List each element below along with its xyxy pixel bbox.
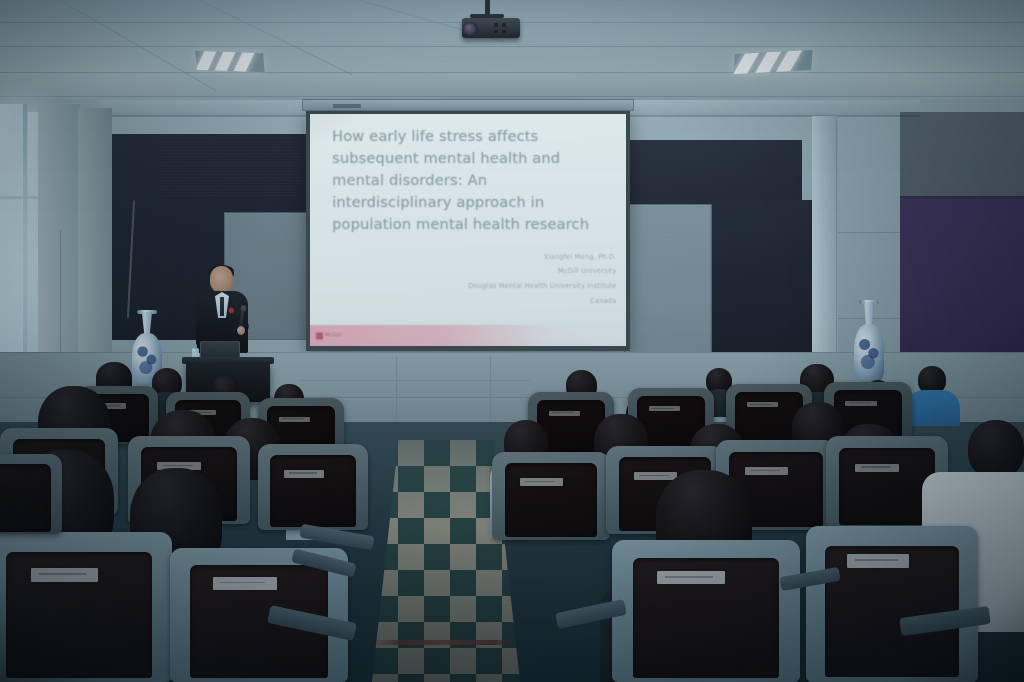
seat-number-label bbox=[649, 406, 680, 411]
presenter-head bbox=[210, 266, 233, 293]
projector-lens bbox=[463, 22, 478, 37]
seat-number-label bbox=[847, 554, 909, 568]
wall-panel-far-right-top bbox=[900, 112, 1024, 198]
seat-number-label bbox=[634, 472, 676, 480]
slide-author-name: Xiangfei Meng, Ph.D. bbox=[468, 250, 616, 265]
table-row[interactable] bbox=[258, 444, 368, 530]
slide-author-institute: Douglas Mental Health University Institu… bbox=[468, 279, 616, 294]
seat-number-label bbox=[213, 577, 277, 589]
slide-title: How early life stress affects subsequent… bbox=[332, 126, 591, 237]
acoustic-grille-left bbox=[160, 138, 300, 196]
presenter-hand bbox=[237, 326, 245, 335]
slide-footer-bar: McGill bbox=[310, 325, 626, 346]
slide-author-block: Xiangfei Meng, Ph.D. McGill University D… bbox=[468, 250, 616, 309]
seat-number-label bbox=[747, 402, 778, 407]
table-row[interactable] bbox=[806, 526, 978, 682]
screen-casing bbox=[302, 99, 634, 111]
seat-number-label bbox=[520, 478, 562, 486]
table-row[interactable] bbox=[612, 540, 800, 682]
ceiling bbox=[0, 0, 1024, 108]
mcgill-logo-text: McGill bbox=[325, 333, 341, 339]
seat-number-label bbox=[855, 464, 899, 472]
seat-number-label bbox=[279, 417, 310, 423]
seat-number-label bbox=[845, 401, 877, 407]
seat-number-label bbox=[745, 467, 788, 475]
mcgill-logo: McGill bbox=[316, 332, 341, 339]
seat-number-label bbox=[284, 470, 324, 478]
presenter-tie bbox=[220, 297, 224, 316]
table-row[interactable] bbox=[0, 532, 172, 682]
projection-screen-slide: How early life stress affects subsequent… bbox=[310, 114, 626, 346]
ceiling-light-panel-left bbox=[195, 51, 264, 72]
window-mullion-horizontal bbox=[0, 196, 40, 199]
mcgill-logo-mark bbox=[316, 332, 323, 339]
slide-author-country: Canada bbox=[468, 294, 616, 309]
porcelain-vase-right bbox=[852, 302, 886, 382]
table-row[interactable] bbox=[0, 454, 62, 534]
lecture-hall-photo: How early life stress affects subsequent… bbox=[0, 0, 1024, 682]
curtain-panel-right-upper bbox=[622, 140, 802, 204]
table-row[interactable] bbox=[492, 452, 610, 540]
seat-number-label bbox=[31, 568, 98, 582]
slide-author-university: McGill University bbox=[468, 264, 616, 279]
seat-number-label bbox=[549, 411, 580, 417]
ceiling-light-panel-right bbox=[733, 50, 812, 74]
seat-number-label bbox=[657, 571, 725, 584]
